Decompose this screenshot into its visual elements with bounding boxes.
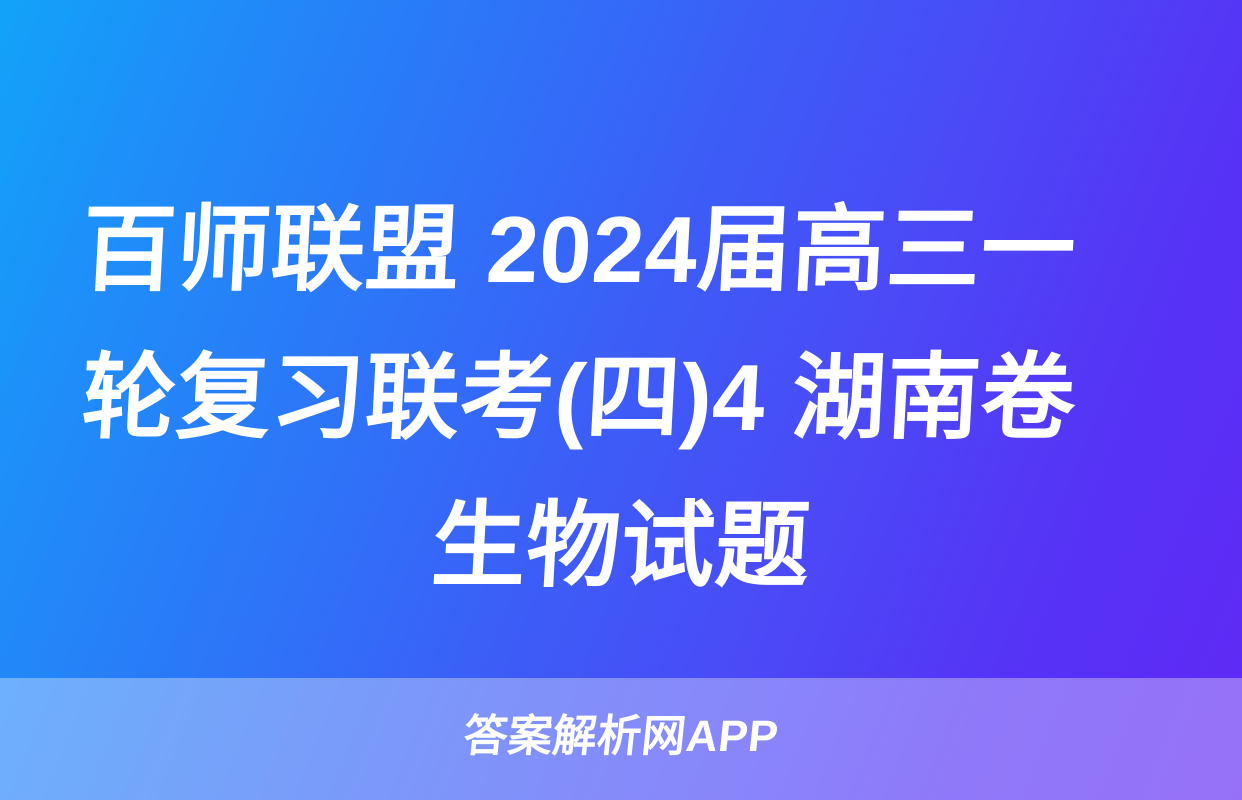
title-block: 百师联盟 2024届高三一 轮复习联考(四)4 湖南卷 生物试题 [0, 176, 1242, 620]
title-line-3: 生物试题 [68, 472, 1174, 620]
title-line-1: 百师联盟 2024届高三一 [68, 176, 1174, 324]
title-card: 百师联盟 2024届高三一 轮复习联考(四)4 湖南卷 生物试题 答案解析网AP… [0, 0, 1242, 800]
watermark-text: 答案解析网APP [0, 712, 1242, 762]
title-line-2: 轮复习联考(四)4 湖南卷 [68, 324, 1174, 472]
